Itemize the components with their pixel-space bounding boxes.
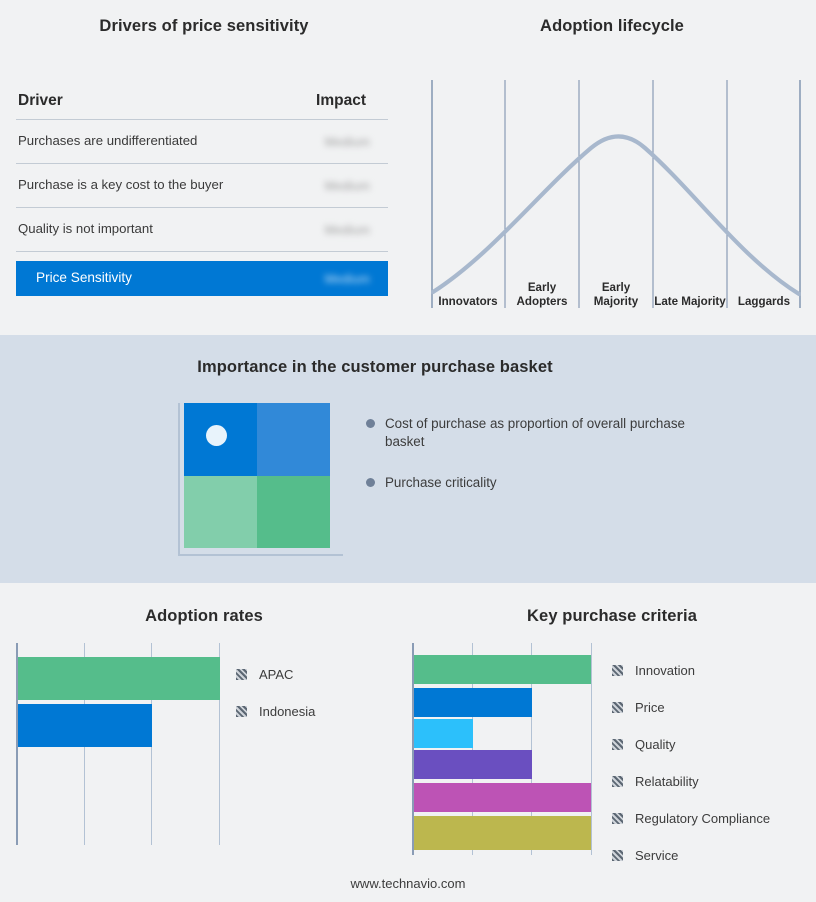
key-purchase-criteria-legend: Innovation Price Quality Relatability Re… — [612, 663, 770, 863]
key-purchase-criteria-title: Key purchase criteria — [408, 607, 816, 626]
bar-slot — [414, 750, 592, 779]
legend-label: Relatability — [635, 774, 699, 789]
adoption-lifecycle-title: Adoption lifecycle — [408, 17, 816, 36]
hatch-swatch-icon — [612, 739, 623, 750]
adoption-rates-legend: APAC Indonesia — [236, 667, 315, 719]
adoption-rates-plot — [16, 643, 220, 845]
bar-apac — [18, 657, 220, 700]
column-header-driver: Driver — [18, 92, 63, 110]
bar-slot — [414, 655, 592, 684]
legend-item: Indonesia — [236, 704, 315, 719]
bar-slot — [414, 816, 592, 850]
legend-item: Regulatory Compliance — [612, 811, 770, 826]
summary-label: Price Sensitivity — [36, 271, 132, 286]
purchase-basket-panel: Importance in the customer purchase bask… — [0, 335, 816, 583]
hatch-swatch-icon — [612, 776, 623, 787]
bar-slot — [18, 704, 220, 747]
driver-name: Purchases are undifferentiated — [18, 134, 197, 149]
adoption-rates-title: Adoption rates — [0, 607, 408, 626]
legend-label: Indonesia — [259, 704, 315, 719]
drivers-table: Driver Impact Purchases are undifferenti… — [16, 92, 388, 296]
legend-item: Price — [612, 700, 770, 715]
key-purchase-criteria-bars — [414, 655, 592, 850]
impact-value: Medium — [325, 222, 388, 237]
key-purchase-criteria-chart — [412, 643, 602, 855]
bar-service — [414, 816, 591, 850]
legend-label: Price — [635, 700, 665, 715]
legend-label: Quality — [635, 737, 675, 752]
bar-regulatory-compliance — [414, 783, 591, 812]
bar-innovation — [414, 655, 591, 684]
price-sensitivity-summary-row: Price Sensitivity Medium — [16, 261, 388, 296]
table-row: Purchases are undifferentiated Medium — [16, 120, 388, 164]
bar-slot — [414, 719, 592, 748]
bar-price — [414, 688, 532, 717]
key-purchase-criteria-panel: Key purchase criteria — [408, 583, 816, 902]
hatch-swatch-icon — [236, 669, 247, 680]
matrix-position-marker-icon — [206, 425, 227, 446]
bar-slot — [18, 657, 220, 700]
legend-item: Purchase criticality — [366, 474, 696, 492]
adoption-rates-bars — [18, 657, 220, 747]
bar-slot — [414, 783, 592, 812]
bar-slot — [414, 688, 592, 717]
legend-label: Cost of purchase as proportion of overal… — [385, 415, 696, 451]
summary-impact-value: Medium — [325, 271, 388, 286]
drivers-title: Drivers of price sensitivity — [0, 17, 408, 36]
legend-item: Service — [612, 848, 770, 863]
impact-value: Medium — [325, 134, 388, 149]
hatch-swatch-icon — [236, 706, 247, 717]
matrix-quadrant-bottom-left — [184, 476, 257, 549]
matrix-x-axis — [178, 554, 343, 556]
matrix-quadrant-top-right — [257, 403, 330, 476]
table-row: Purchase is a key cost to the buyer Medi… — [16, 164, 388, 208]
key-purchase-criteria-plot — [412, 643, 592, 855]
bar-relatability — [414, 750, 532, 779]
legend-label: Service — [635, 848, 678, 863]
legend-item: APAC — [236, 667, 315, 682]
bullet-icon — [366, 478, 375, 487]
matrix-quadrant-top-left — [184, 403, 257, 476]
table-header-row: Driver Impact — [16, 92, 388, 120]
lifecycle-label-late-majority: Late Majority — [653, 265, 727, 310]
lifecycle-segment-labels: Innovators Early Adopters Early Majority… — [431, 265, 801, 310]
purchase-basket-title: Importance in the customer purchase bask… — [0, 358, 750, 377]
impact-value: Medium — [325, 178, 388, 193]
lifecycle-label-innovators: Innovators — [431, 265, 505, 310]
matrix-quadrants — [184, 403, 330, 548]
driver-name: Purchase is a key cost to the buyer — [18, 178, 223, 193]
driver-name: Quality is not important — [18, 222, 153, 237]
adoption-rates-panel: Adoption rates APAC Indonesia — [0, 583, 408, 902]
adoption-rates-chart — [16, 643, 226, 845]
bullet-icon — [366, 419, 375, 428]
table-row: Quality is not important Medium — [16, 208, 388, 252]
legend-label: Innovation — [635, 663, 695, 678]
lifecycle-label-laggards: Laggards — [727, 265, 801, 310]
hatch-swatch-icon — [612, 702, 623, 713]
legend-item: Relatability — [612, 774, 770, 789]
legend-label: Purchase criticality — [385, 474, 497, 492]
bar-indonesia — [18, 704, 152, 747]
matrix-y-axis — [178, 403, 180, 556]
drivers-panel: Drivers of price sensitivity Driver Impa… — [0, 0, 408, 335]
legend-label: Regulatory Compliance — [635, 811, 770, 826]
bar-quality — [414, 719, 473, 748]
legend-label: APAC — [259, 667, 293, 682]
legend-item: Cost of purchase as proportion of overal… — [366, 415, 696, 451]
purchase-basket-legend: Cost of purchase as proportion of overal… — [366, 415, 696, 515]
legend-item: Innovation — [612, 663, 770, 678]
purchase-basket-matrix — [178, 403, 343, 563]
column-header-impact: Impact — [316, 92, 388, 110]
hatch-swatch-icon — [612, 850, 623, 861]
legend-item: Quality — [612, 737, 770, 752]
footer-url: www.technavio.com — [0, 876, 816, 891]
adoption-lifecycle-panel: Adoption lifecycle Innovators Early Adop… — [408, 0, 816, 335]
matrix-quadrant-bottom-right — [257, 476, 330, 549]
lifecycle-label-early-adopters: Early Adopters — [505, 265, 579, 310]
lifecycle-label-early-majority: Early Majority — [579, 265, 653, 310]
hatch-swatch-icon — [612, 813, 623, 824]
hatch-swatch-icon — [612, 665, 623, 676]
